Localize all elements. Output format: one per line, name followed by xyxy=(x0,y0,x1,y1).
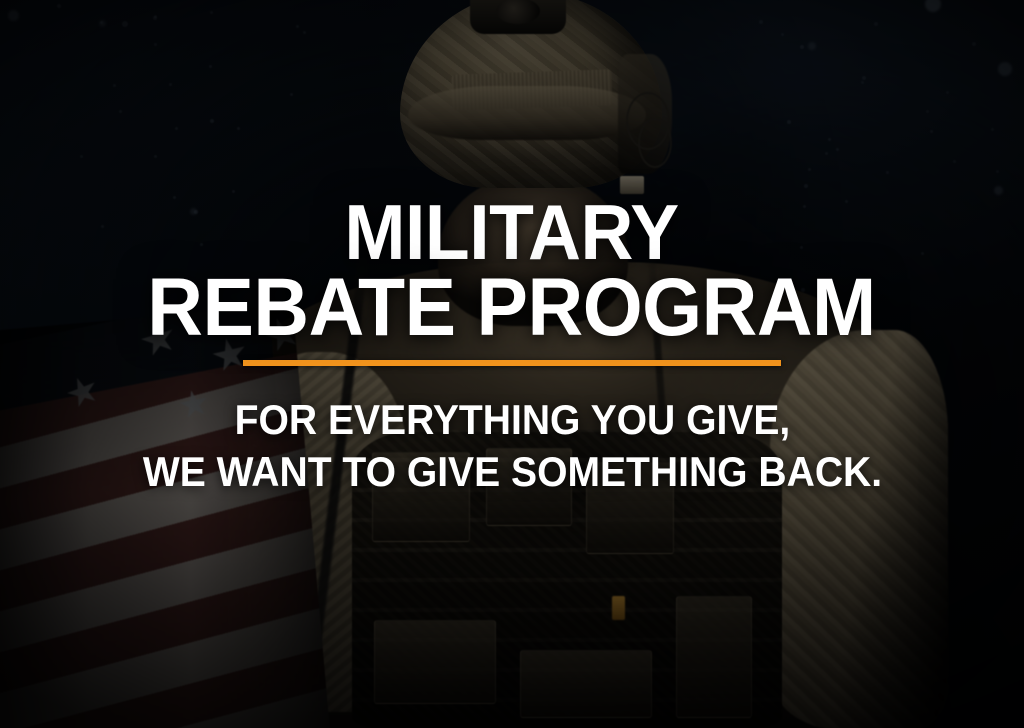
headline-line-1: MILITARY xyxy=(148,196,877,269)
subhead-line-1: FOR EVERYTHING YOU GIVE, xyxy=(142,394,881,445)
orange-divider xyxy=(243,360,781,366)
subhead-line-2: WE WANT TO GIVE SOMETHING BACK. xyxy=(142,446,881,497)
headline-line-2: REBATE PROGRAM xyxy=(148,269,877,346)
page-title: MILITARY REBATE PROGRAM xyxy=(148,196,877,346)
banner-content: MILITARY REBATE PROGRAM FOR EVERYTHING Y… xyxy=(0,0,1024,728)
page-subtitle: FOR EVERYTHING YOU GIVE, WE WANT TO GIVE… xyxy=(142,394,881,496)
military-rebate-banner: MILITARY REBATE PROGRAM FOR EVERYTHING Y… xyxy=(0,0,1024,728)
